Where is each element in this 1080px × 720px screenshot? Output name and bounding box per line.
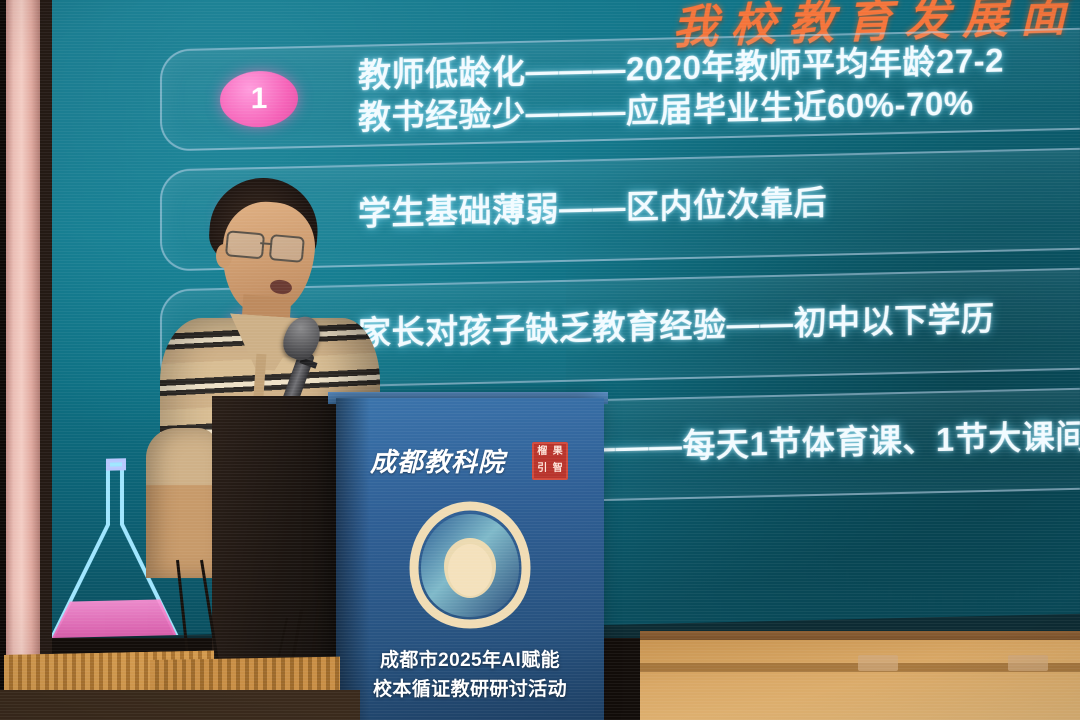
row-badge: 1 xyxy=(220,70,298,128)
event-title-line2: 校本循证教研研讨活动 xyxy=(336,675,604,704)
stage-floor-marker xyxy=(1008,655,1048,671)
seal-char: 智 xyxy=(551,462,566,478)
row-text: ———每天1节体育课、1节大课间 xyxy=(582,414,1080,469)
presentation-photo-scene: 我校教育发展面 1 教师低龄化———2020年教师平均年龄27-2 教书经验少—… xyxy=(0,0,1080,720)
stage-floor-left xyxy=(0,690,360,720)
glasses-lens-right xyxy=(269,234,305,263)
left-wall-panel xyxy=(6,0,40,660)
oval-emblem-icon xyxy=(406,500,534,630)
event-title-line1: 成都市2025年AI赋能 xyxy=(336,646,604,675)
left-wall-trim xyxy=(40,0,52,655)
glasses-lens-left xyxy=(225,230,265,259)
podium-panel: 成都教科院 榴 果 引 智 xyxy=(336,398,604,720)
institute-logo-text: 成都教科院 xyxy=(370,442,530,476)
row-text: 学生基础薄弱——区内位次靠后 xyxy=(358,174,1080,234)
speaker-arm xyxy=(146,428,218,578)
stage-floor-marker xyxy=(858,655,898,671)
row-text: 家长对孩子缺乏教育经验——初中以下学历 xyxy=(358,294,1080,354)
seal-char: 果 xyxy=(551,445,566,461)
seal-char: 榴 xyxy=(535,445,550,461)
row-text: 教师低龄化———2020年教师平均年龄27-2 教书经验少———应届毕业生近60… xyxy=(358,36,1080,138)
event-title: 成都市2025年AI赋能 校本循证教研研讨活动 xyxy=(336,646,604,704)
stage-floor-right xyxy=(640,640,1080,720)
seal-char: 引 xyxy=(535,462,550,478)
red-seal-icon: 榴 果 引 智 xyxy=(532,442,568,480)
